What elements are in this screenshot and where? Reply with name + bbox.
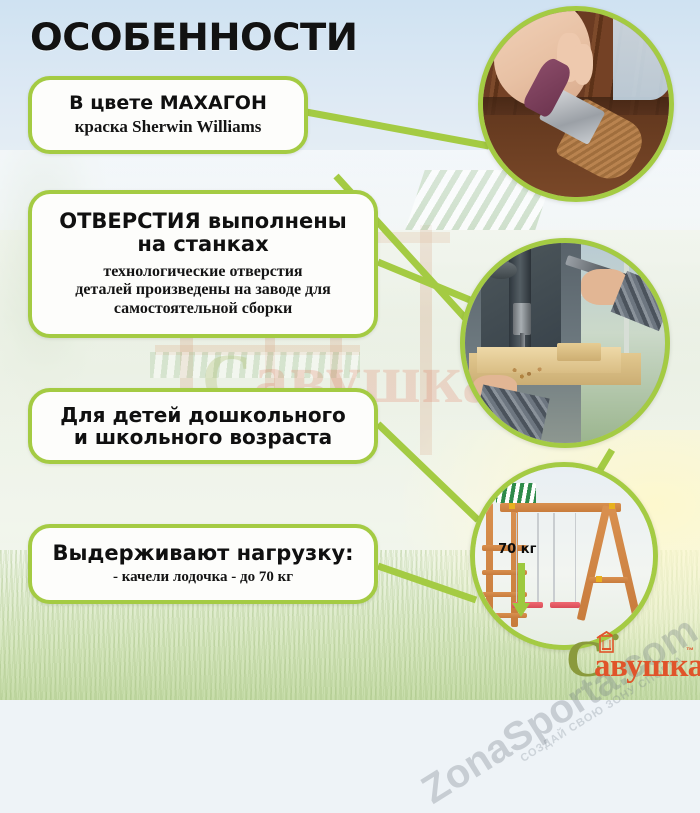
swing-seat: [550, 602, 580, 608]
feature-card-age-heading-line1: Для детей дошкольного: [42, 404, 364, 426]
feature-card-load-subtitle: - качели лодочка - до 70 кг: [42, 569, 364, 586]
feature-card-load: Выдерживают нагрузку: - качели лодочка -…: [28, 524, 378, 604]
photo-sky-corner: [613, 6, 674, 100]
feature-card-holes-sub-line2: деталей произведены на заводе для: [42, 281, 364, 300]
brand-logo[interactable]: С авушка ™: [566, 636, 692, 692]
photo-swing-set: 70 кг: [470, 462, 658, 650]
feature-card-color-subtitle: краска Sherwin Williams: [42, 117, 294, 137]
swing-rope: [553, 513, 555, 602]
metal-bracket: [509, 503, 515, 509]
load-label: 70 кг: [498, 542, 536, 557]
feature-card-holes-sub-line1: технологические отверстия: [42, 263, 364, 282]
feature-card-age-heading-line2: и школьного возраста: [42, 426, 364, 448]
metal-bracket: [609, 503, 615, 509]
feature-card-age: Для детей дошкольного и школьного возрас…: [28, 388, 378, 464]
feature-card-holes-sub-line3: самостоятельной сборки: [42, 300, 364, 319]
photo-painting-wood: [478, 6, 674, 202]
feature-card-color: В цвете МАХАГОН краска Sherwin Williams: [28, 76, 308, 154]
load-arrow-icon: [518, 563, 525, 603]
swing-rope: [537, 513, 539, 602]
feature-card-load-heading: Выдерживают нагрузку:: [42, 542, 364, 566]
metal-bracket: [596, 576, 602, 582]
brand-logo-text: авушка: [594, 650, 700, 683]
drill-chuck: [513, 303, 531, 335]
swing-rope: [575, 513, 577, 602]
a-frame-crossbar: [589, 577, 628, 583]
striped-canopy: [496, 483, 535, 503]
page-title: ОСОБЕННОСТИ: [30, 16, 357, 59]
brand-logo-trademark: ™: [686, 646, 694, 655]
photo-drill-press: [460, 238, 670, 448]
tower-post: [486, 503, 493, 628]
feature-card-holes-heading-line2: на станках: [42, 233, 364, 257]
finger: [572, 44, 592, 85]
drill-press-knob: [485, 261, 517, 279]
feature-card-holes-heading-line1: ОТВЕРСТИЯ выполнены: [42, 210, 364, 234]
feature-card-holes: ОТВЕРСТИЯ выполнены на станках технологи…: [28, 190, 378, 338]
wood-block: [557, 343, 601, 361]
feature-card-color-heading: В цвете МАХАГОН: [42, 93, 294, 114]
